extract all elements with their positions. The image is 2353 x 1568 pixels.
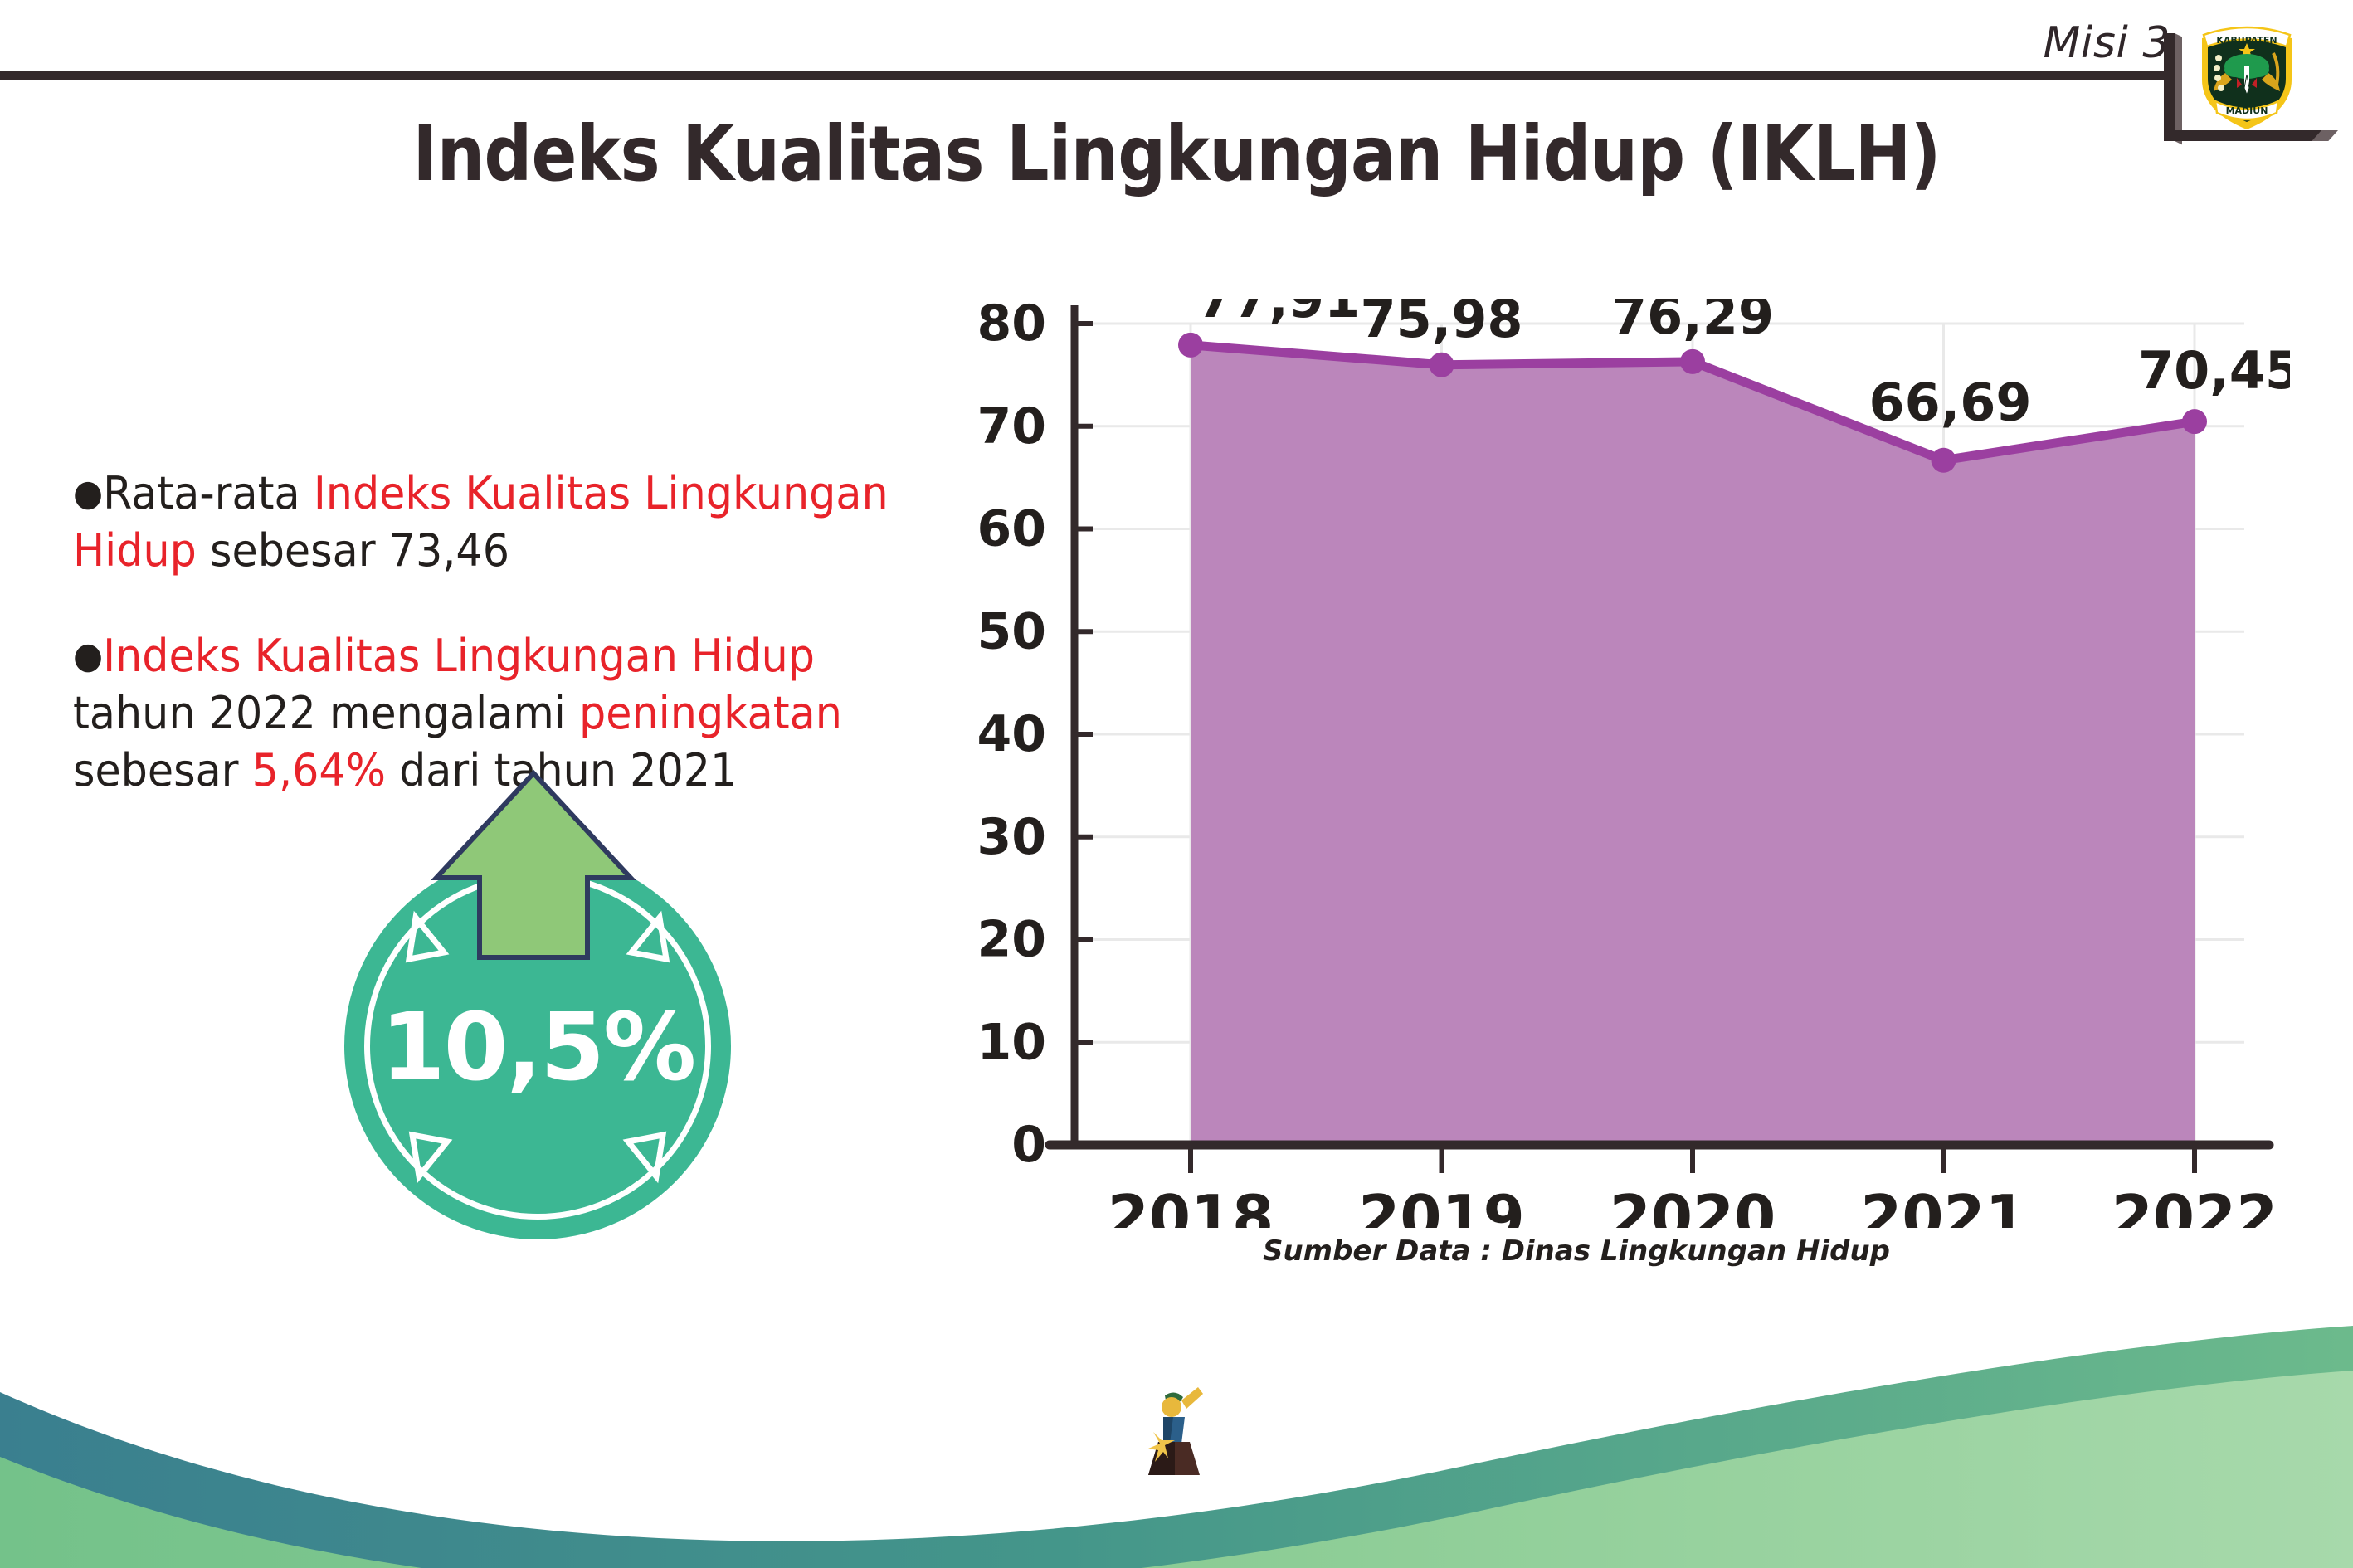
data-value-label: 76,29 — [1611, 299, 1774, 346]
y-tick-label: 10 — [977, 1013, 1047, 1071]
plain-phrase: sebesar 73,46 — [197, 524, 509, 577]
x-tick-label: 2018 — [1108, 1182, 1274, 1228]
misi-label: Misi 3 — [2044, 18, 2170, 68]
plain-phrase: sebesar — [73, 744, 252, 796]
y-tick-label: 20 — [977, 911, 1047, 969]
chart-area-series — [1191, 345, 2195, 1145]
bullet-text-average: Rata-rata Indeks Kualitas Lingkungan Hid… — [73, 467, 889, 577]
bullet-item-average: ●Rata-rata Indeks Kualitas Lingkungan Hi… — [73, 465, 908, 579]
up-arrow-icon — [436, 773, 631, 957]
iklh-area-chart: 01020304050607080 20182019202020212022 7… — [946, 299, 2290, 1278]
x-tick-label: 2021 — [1860, 1182, 2026, 1228]
x-tick-label: 2019 — [1358, 1182, 1524, 1228]
data-value-label: 75,98 — [1360, 299, 1522, 349]
chart-source-note: Sumber Data : Dinas Lingkungan Hidup — [1037, 1234, 2116, 1268]
data-value-label: 77,91 — [1197, 299, 1360, 329]
bullet-dot-icon: ● — [73, 635, 103, 677]
data-point-marker — [1932, 448, 1956, 473]
y-tick-label: 40 — [977, 705, 1047, 763]
emblem-bottom-banner-text: MADIUN — [2226, 105, 2268, 116]
y-tick-label: 80 — [977, 299, 1047, 353]
percentage-change-badge: 10,5% — [326, 762, 749, 1226]
chart-x-tick-labels: 20182019202020212022 — [1108, 1182, 2277, 1228]
y-tick-label: 50 — [977, 602, 1047, 660]
data-point-marker — [1178, 333, 1203, 358]
page-title: Indeks Kualitas Lingkungan Hidup (IKLH) — [141, 110, 2212, 198]
badge-percentage-value: 10,5% — [326, 994, 749, 1102]
highlighted-phrase: Indeks Kualitas Lingkungan Hidup — [103, 630, 815, 682]
y-tick-label: 70 — [977, 397, 1047, 455]
plain-phrase: tahun 2022 mengalami — [73, 687, 579, 739]
bullet-dot-icon: ● — [73, 472, 103, 514]
area-fill — [1191, 345, 2195, 1145]
y-tick-label: 30 — [977, 808, 1047, 866]
y-tick-label: 60 — [977, 500, 1047, 558]
y-tick-label: 0 — [1011, 1116, 1046, 1174]
data-point-marker — [2182, 409, 2207, 434]
x-tick-label: 2020 — [1610, 1182, 1776, 1228]
data-value-label: 70,45 — [2138, 340, 2290, 401]
chart-svg: 01020304050607080 20182019202020212022 7… — [946, 299, 2290, 1228]
media-infografis-logo-icon — [1138, 1382, 1221, 1483]
data-point-marker — [1430, 353, 1454, 377]
chart-y-tick-labels: 01020304050607080 — [977, 299, 1047, 1174]
header-divider-rule — [0, 71, 2170, 80]
data-value-label: 66,69 — [1868, 373, 2031, 433]
data-point-marker — [1680, 349, 1705, 374]
x-tick-label: 2022 — [2112, 1182, 2277, 1228]
highlighted-phrase: peningkatan — [579, 687, 842, 739]
plain-phrase: Rata-rata — [103, 467, 314, 519]
